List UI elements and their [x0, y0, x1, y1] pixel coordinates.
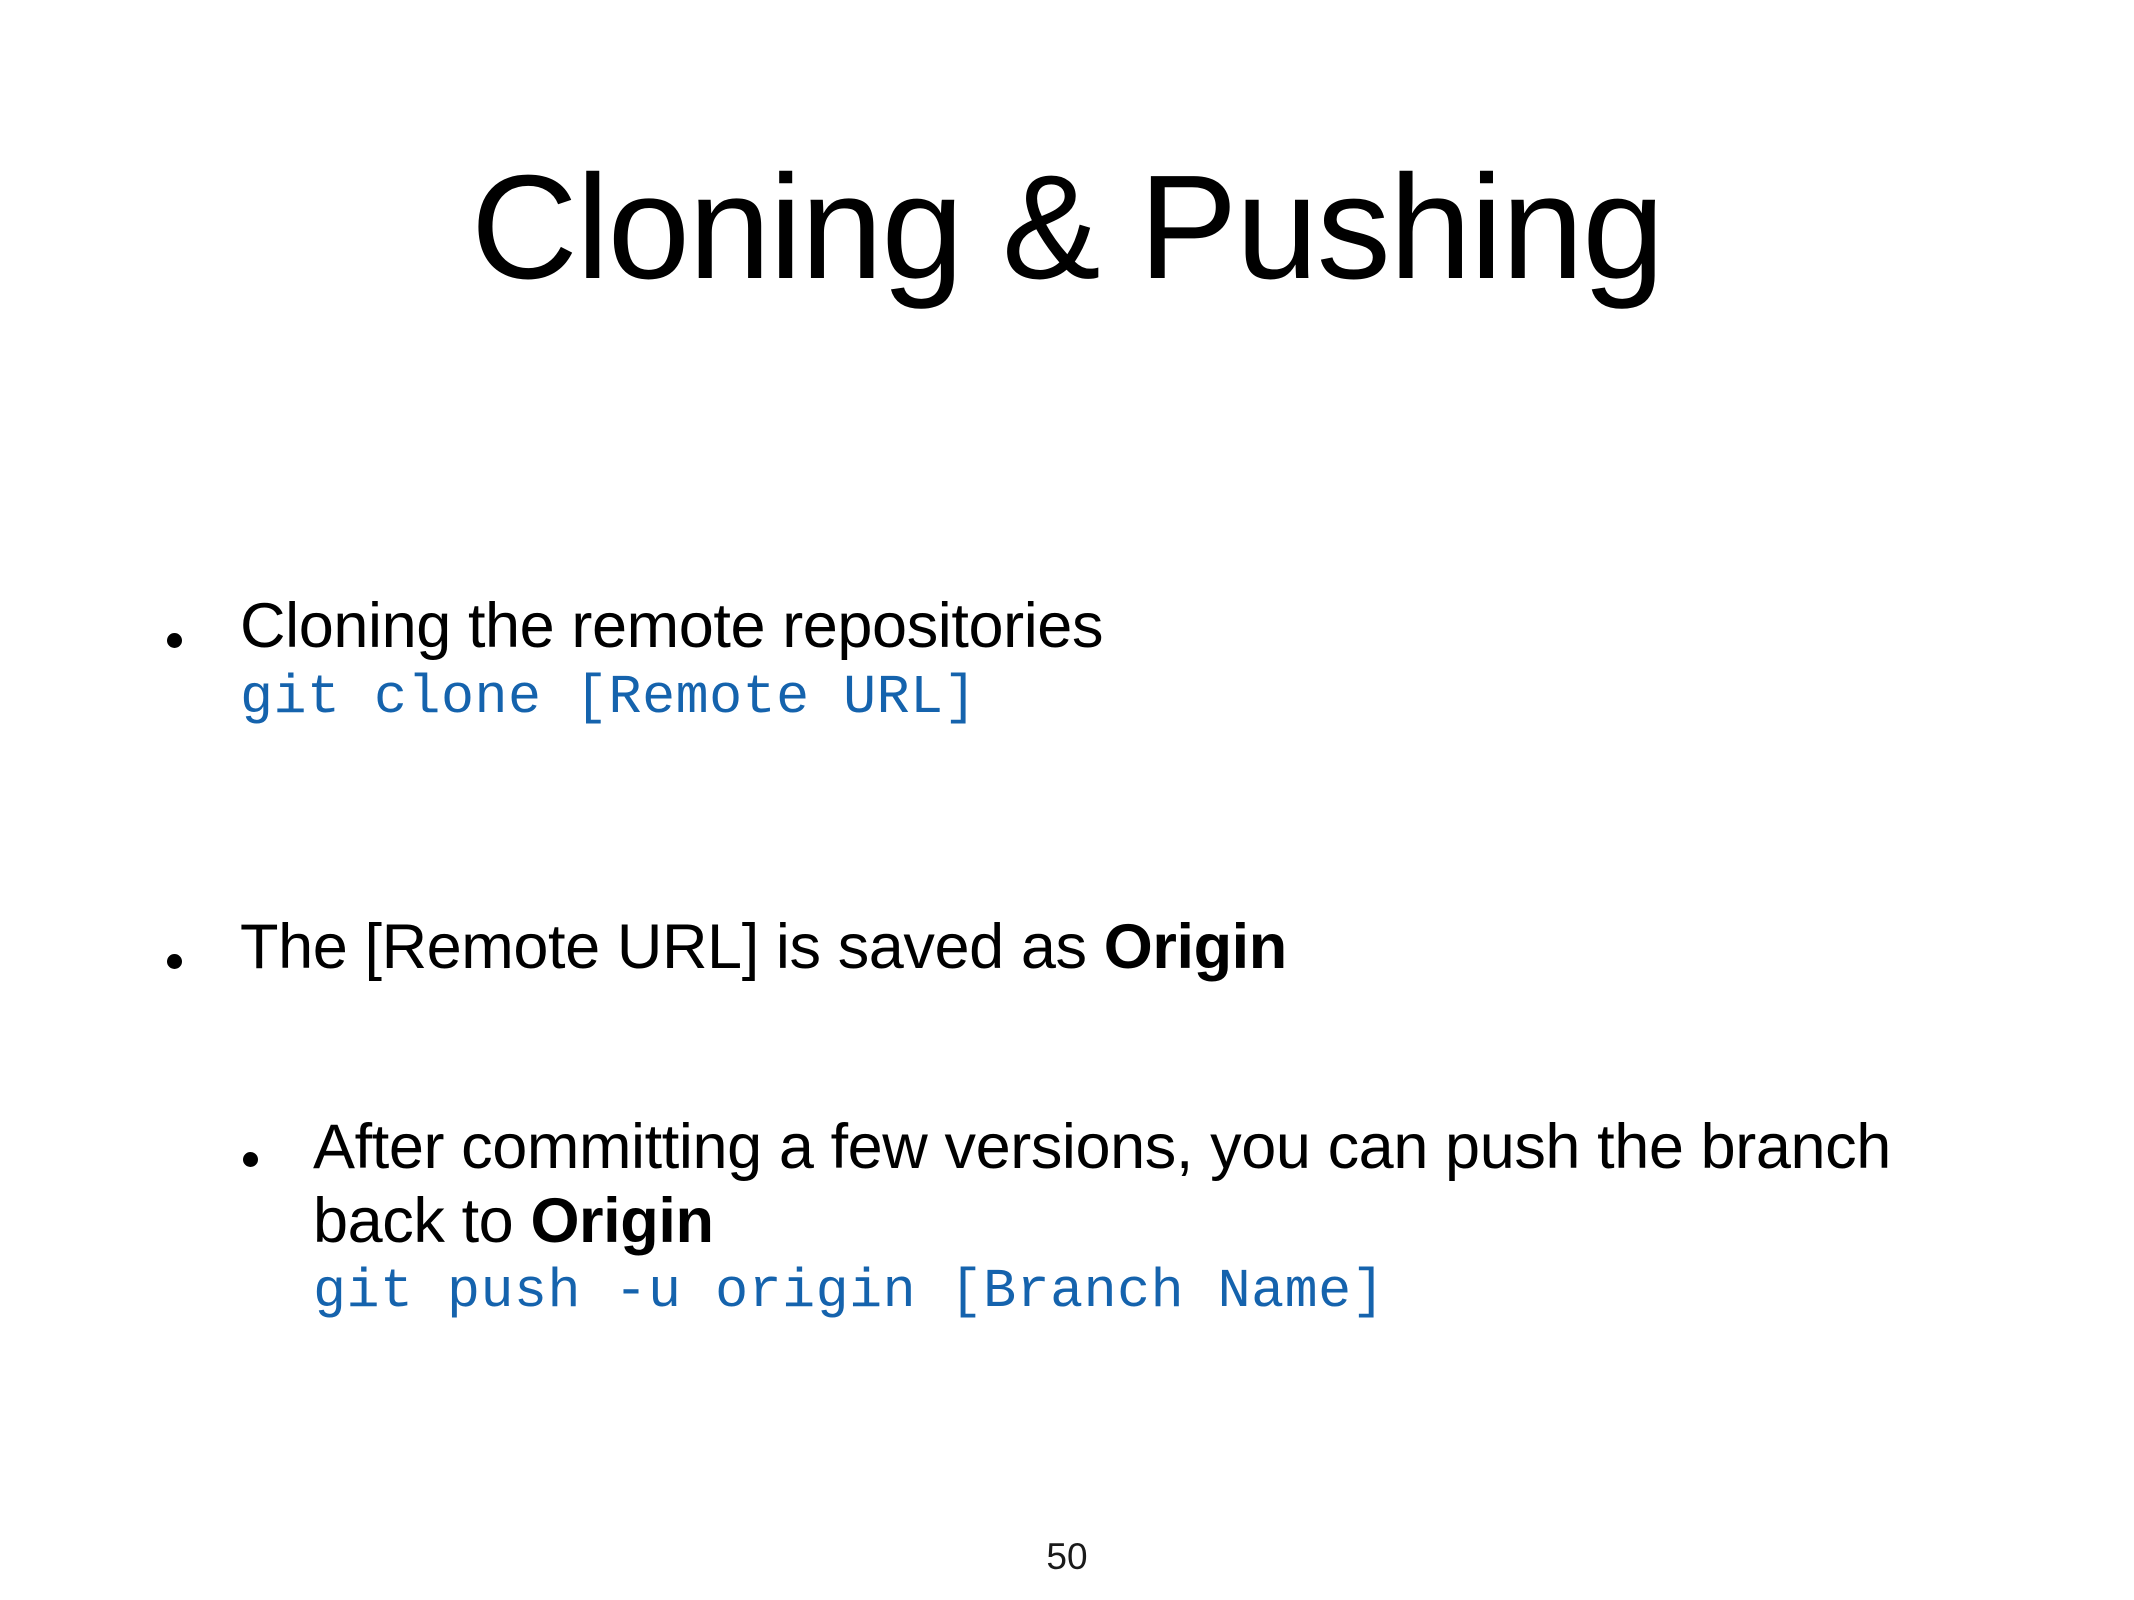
list-item-text-prefix: The [Remote URL] is saved as [240, 912, 1104, 982]
bullet-dot-icon [167, 633, 182, 648]
code-snippet-push: git push -u origin [Branch Name] [150, 1258, 2014, 1325]
list-item: After committing a few versions, you can… [150, 1110, 2014, 1259]
bullet-dot-icon [243, 1152, 258, 1167]
list-item: Cloning the remote repositories [150, 590, 2014, 664]
spacer [150, 985, 2014, 1110]
slide-body: Cloning the remote repositories git clon… [150, 590, 2014, 1325]
code-snippet-clone: git clone [Remote URL] [150, 664, 2014, 731]
list-item-text-bold: Origin [1104, 912, 1287, 982]
bullet-dot-icon [167, 954, 182, 969]
slide-canvas: Cloning & Pushing Cloning the remote rep… [0, 0, 2134, 1600]
page-number: 50 [0, 1536, 2134, 1578]
list-item-label: Cloning the remote repositories [240, 590, 2014, 664]
list-item-label: After committing a few versions, you can… [313, 1110, 2014, 1259]
list-item: The [Remote URL] is saved as Origin [150, 911, 2014, 985]
list-item-text-bold: Origin [530, 1186, 713, 1256]
page-title: Cloning & Pushing [0, 150, 2134, 305]
list-item-label: The [Remote URL] is saved as Origin [240, 911, 2014, 985]
list-item-text-prefix: Cloning the remote repositories [240, 591, 1103, 661]
spacer [150, 731, 2014, 911]
